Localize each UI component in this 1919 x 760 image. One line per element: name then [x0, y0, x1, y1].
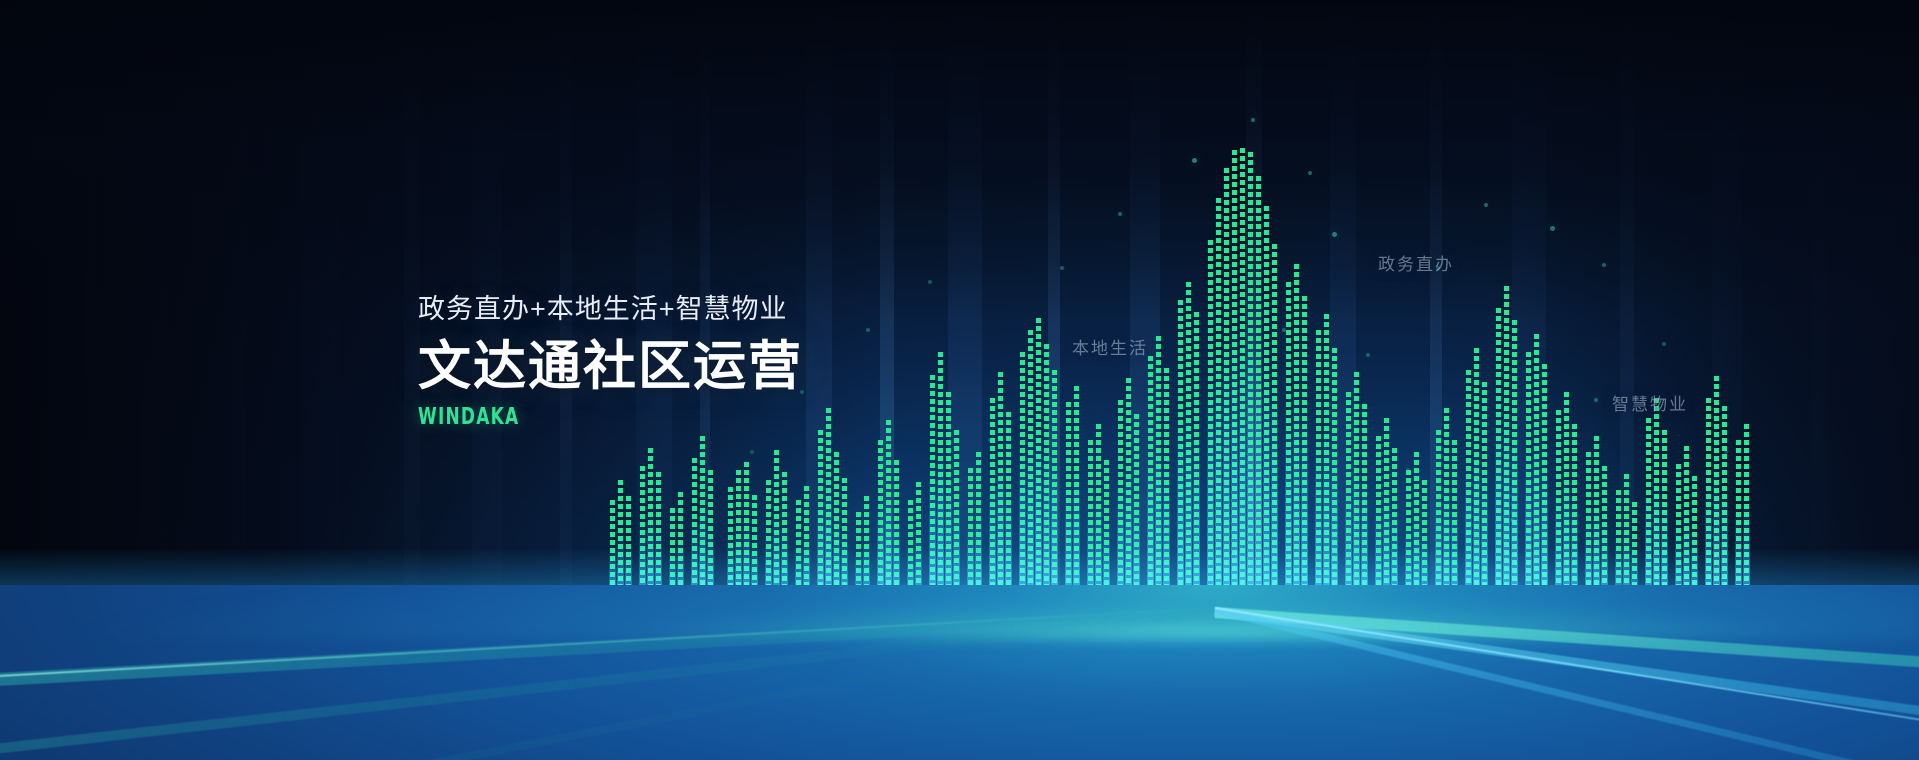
skyline-column: [1224, 168, 1229, 612]
skyline-column: [1240, 148, 1245, 612]
banner-headline: 文达通社区运营: [418, 337, 803, 396]
brand-wordmark: WINDAKA: [418, 406, 734, 429]
skyline-column: [1248, 152, 1253, 612]
skyline-column: [1256, 176, 1261, 612]
skyline-column: [1232, 150, 1237, 612]
headline-block: 政务直办+本地生活+智慧物业 文达通社区运营 WINDAKA: [418, 296, 803, 429]
skyline-label-2: 政务直办: [1378, 256, 1454, 273]
skyline-label-3: 智慧物业: [1612, 396, 1688, 413]
skyline-label-1: 本地生活: [1072, 340, 1148, 357]
banner-root: 本地生活政务直办智慧物业 政务直办+本地生活+智慧物业 文达通社区运营 WIND…: [0, 0, 1919, 760]
perspective-ground: [0, 585, 1919, 760]
banner-subtitle: 政务直办+本地生活+智慧物业: [418, 296, 803, 323]
